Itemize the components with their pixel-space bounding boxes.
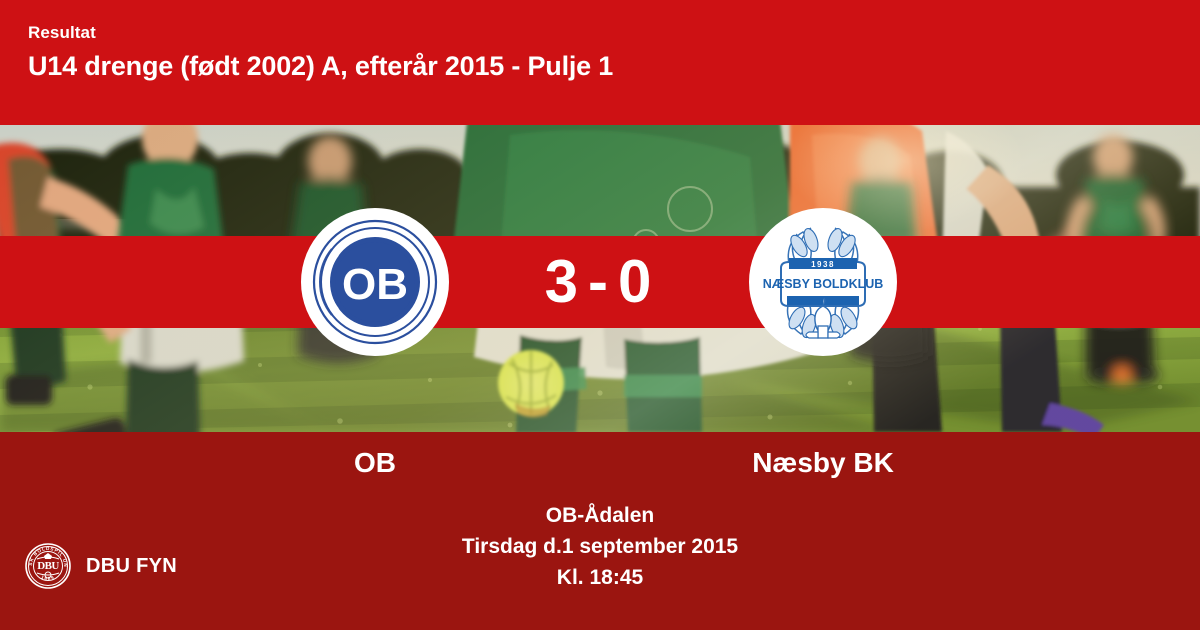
dbu-center-text: DBU: [37, 560, 59, 572]
team-names-row: OB Næsby BK: [0, 432, 1200, 494]
page-title: U14 drenge (født 2002) A, efterår 2015 -…: [28, 47, 1200, 85]
match-details: OB-Ådalen Tirsdag d.1 september 2015 Kl.…: [0, 500, 1200, 593]
score-display: 3 - 0: [0, 236, 1200, 328]
score-separator: -: [582, 236, 618, 328]
footer-brand: DANSK BOLDSPIL UNION 1889 DBU DBU FYN: [24, 542, 177, 590]
dbu-emblem-icon: DANSK BOLDSPIL UNION 1889 DBU: [24, 542, 72, 590]
match-venue: OB-Ådalen: [0, 500, 1200, 531]
away-team-name: Næsby BK: [733, 446, 913, 480]
home-team-name: OB: [285, 446, 465, 480]
header-kicker: Resultat: [28, 22, 1200, 44]
score-home: 3: [545, 236, 582, 328]
match-time: Kl. 18:45: [0, 562, 1200, 593]
match-result-card: Resultat U14 drenge (født 2002) A, efter…: [0, 0, 1200, 630]
header: Resultat U14 drenge (født 2002) A, efter…: [0, 0, 1200, 125]
score-away: 0: [618, 236, 655, 328]
dbu-fyn-label: DBU FYN: [86, 555, 177, 578]
match-date: Tirsdag d.1 september 2015: [0, 531, 1200, 562]
